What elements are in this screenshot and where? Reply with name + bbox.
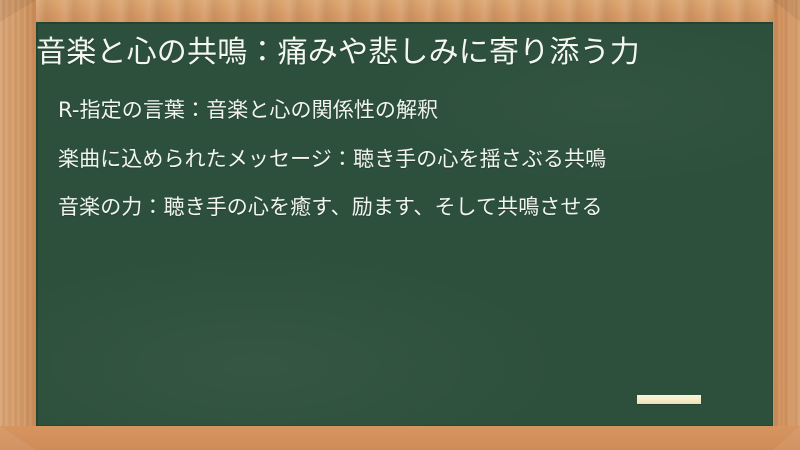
topic-list-item: R-指定の言葉：音楽と心の関係性の解釈 <box>36 95 743 126</box>
chalk-eraser-icon <box>637 395 701 404</box>
topic-list-item: 楽曲に込められたメッセージ：聴き手の心を揺さぶる共鳴 <box>36 144 743 175</box>
frame-miter-bottom-left <box>0 426 36 450</box>
frame-miter-top-left <box>0 0 36 22</box>
slide-title: 音楽と心の共鳴：痛みや悲しみに寄り添う力 <box>36 33 743 72</box>
blackboard-surface: 音楽と心の共鳴：痛みや悲しみに寄り添う力 R-指定の言葉：音楽と心の関係性の解釈… <box>36 22 773 426</box>
frame-rail-bottom <box>0 426 800 450</box>
frame-rail-right <box>773 0 800 450</box>
frame-rail-top <box>0 0 800 22</box>
frame-miter-top-right <box>773 0 800 22</box>
topic-list-item: 音楽の力：聴き手の心を癒す、励ます、そして共鳴させる <box>36 192 743 223</box>
frame-miter-bottom-right <box>773 426 800 450</box>
topic-list: R-指定の言葉：音楽と心の関係性の解釈 楽曲に込められたメッセージ：聴き手の心を… <box>36 95 743 223</box>
blackboard-frame: 音楽と心の共鳴：痛みや悲しみに寄り添う力 R-指定の言葉：音楽と心の関係性の解釈… <box>0 0 800 450</box>
blackboard-content: 音楽と心の共鳴：痛みや悲しみに寄り添う力 R-指定の言葉：音楽と心の関係性の解釈… <box>36 33 743 223</box>
frame-rail-left <box>0 0 36 450</box>
